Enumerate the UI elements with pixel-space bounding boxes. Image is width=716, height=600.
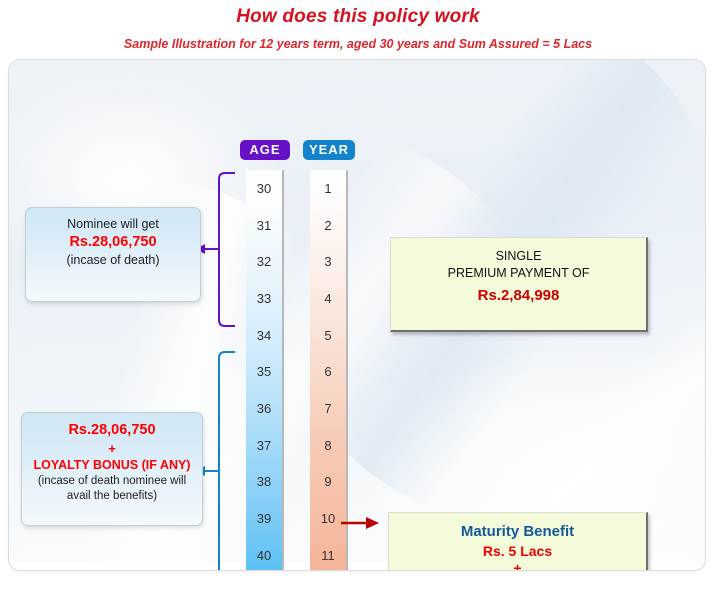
age-column-header: AGE: [240, 140, 290, 160]
year-scale-column: 1 2 3 4 5 6 7 8 9 10 11 12: [310, 170, 348, 571]
maturity-plus-sign: +: [389, 559, 646, 571]
bonus-note: (incase of death nominee will avail the …: [28, 474, 196, 504]
maturity-title: Maturity Benefit: [389, 523, 646, 540]
nominee-callout-box: Nominee will get Rs.28,06,750 (incase of…: [25, 207, 201, 302]
age-cell: 40: [246, 537, 282, 571]
age-cell: 35: [246, 353, 282, 390]
age-cell: 39: [246, 500, 282, 537]
age-cell: 32: [246, 243, 282, 280]
age-cell: 37: [246, 427, 282, 464]
year-cell: 10: [310, 500, 346, 537]
age-scale-column: 30 31 32 33 34 35 36 37 38 39 40 41: [246, 170, 284, 571]
age-cell: 36: [246, 390, 282, 427]
premium-amount: Rs.2,84,998: [391, 282, 646, 304]
title-block: How does this policy work Sample Illustr…: [0, 0, 716, 51]
nominee-line-1: Nominee will get: [32, 216, 194, 233]
page-subtitle: Sample Illustration for 12 years term, a…: [0, 28, 716, 51]
maturity-benefit-box: Maturity Benefit Rs. 5 Lacs + LOYALTY BO…: [388, 512, 648, 571]
year-cell: 9: [310, 463, 346, 500]
bonus-plus-sign: +: [28, 440, 196, 457]
bonus-label: LOYALTY BONUS (IF ANY): [28, 457, 196, 474]
year-cell: 8: [310, 427, 346, 464]
year-cell: 7: [310, 390, 346, 427]
age-cell: 38: [246, 463, 282, 500]
year-cell: 3: [310, 243, 346, 280]
bonus-amount: Rs.28,06,750: [28, 421, 196, 440]
age-cell: 30: [246, 170, 282, 207]
age-cell: 33: [246, 280, 282, 317]
year-cell: 4: [310, 280, 346, 317]
nominee-line-3: (incase of death): [32, 252, 194, 269]
year-cell: 6: [310, 353, 346, 390]
nominee-amount: Rs.28,06,750: [32, 233, 194, 252]
premium-line-2: PREMIUM PAYMENT OF: [391, 265, 646, 282]
age-cell: 34: [246, 317, 282, 354]
bonus-callout-box: Rs.28,06,750 + LOYALTY BONUS (IF ANY) (i…: [21, 412, 203, 526]
illustration-panel: AGE YEAR 30 31 32 33 34 35 36 37 38 39 4…: [8, 59, 706, 571]
year-cell: 11: [310, 537, 346, 571]
year-cell: 5: [310, 317, 346, 354]
maturity-amount: Rs. 5 Lacs: [389, 540, 646, 559]
year-cell: 2: [310, 207, 346, 244]
premium-line-1: SINGLE: [391, 248, 646, 265]
year-cell: 1: [310, 170, 346, 207]
year-column-header: YEAR: [303, 140, 355, 160]
page-title: How does this policy work: [0, 0, 716, 28]
age-cell: 31: [246, 207, 282, 244]
premium-payment-box: SINGLE PREMIUM PAYMENT OF Rs.2,84,998: [390, 237, 648, 332]
